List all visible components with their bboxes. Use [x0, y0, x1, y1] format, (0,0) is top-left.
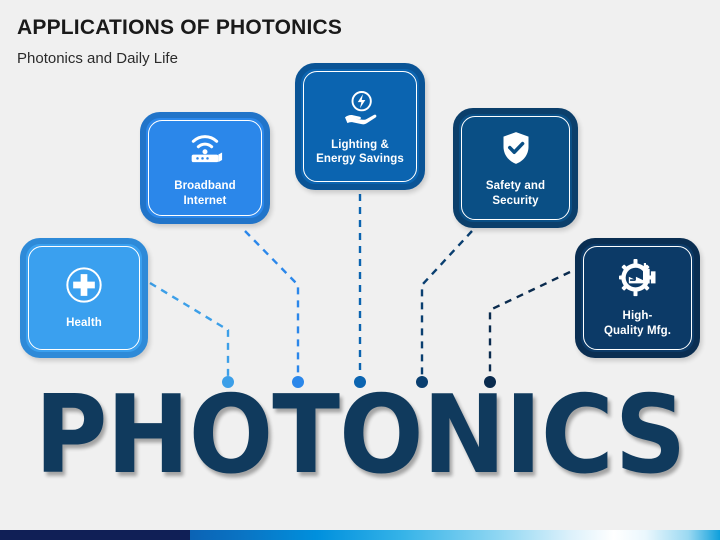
line-mfg [490, 272, 570, 378]
shield-check-icon [496, 128, 536, 173]
slide-canvas: APPLICATIONS OF PHOTONICS Photonics and … [0, 0, 720, 540]
medical-cross-circle-icon [64, 265, 104, 310]
page-title: APPLICATIONS OF PHOTONICS [17, 16, 342, 40]
line-safety [422, 231, 472, 378]
card-high-quality-mfg[interactable]: High- Quality Mfg. [575, 238, 700, 358]
wifi-router-icon [185, 128, 225, 173]
card-broadband-internet[interactable]: Broadband Internet [140, 112, 270, 224]
hand-energy-bolt-icon [340, 87, 380, 132]
hero-word: PHOTONICS [29, 382, 691, 490]
page-subtitle: Photonics and Daily Life [17, 50, 178, 67]
factory-gear-icon [618, 258, 658, 303]
card-label: Safety and Security [480, 179, 551, 208]
line-health [150, 283, 228, 378]
card-health[interactable]: Health [20, 238, 148, 358]
line-broadband [245, 231, 298, 378]
footer-bar [0, 530, 720, 540]
card-label: High- Quality Mfg. [598, 309, 677, 338]
card-label: Health [60, 316, 108, 330]
card-lighting-energy-savings[interactable]: Lighting & Energy Savings [295, 63, 425, 190]
footer-navy-block [0, 530, 190, 540]
card-label: Lighting & Energy Savings [310, 138, 410, 167]
card-label: Broadband Internet [168, 179, 242, 208]
card-safety-and-security[interactable]: Safety and Security [453, 108, 578, 228]
footer-gradient-block [190, 530, 720, 540]
